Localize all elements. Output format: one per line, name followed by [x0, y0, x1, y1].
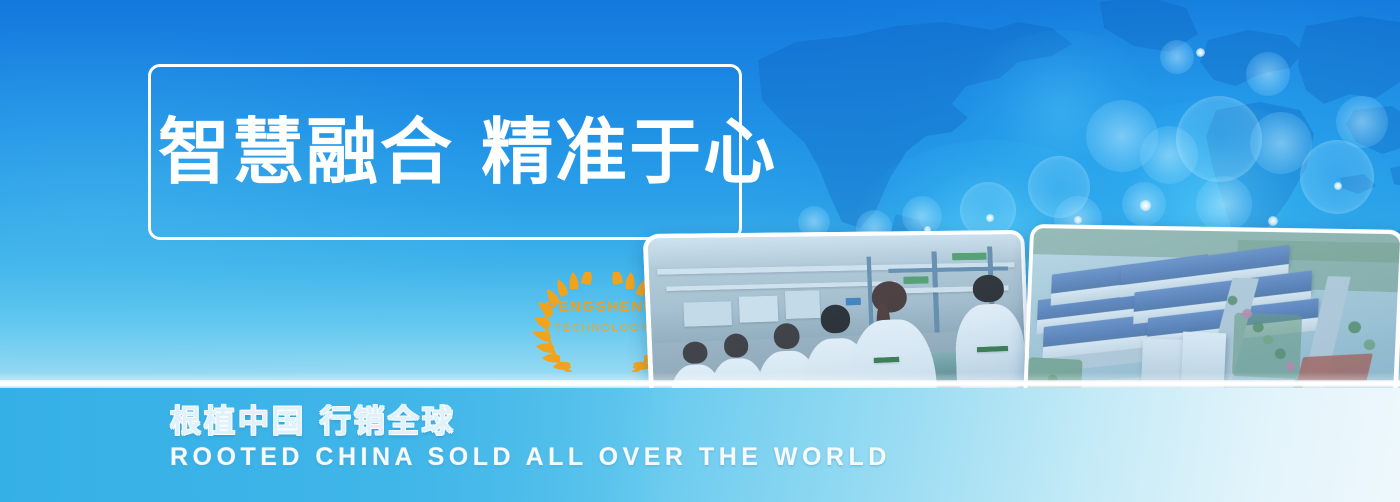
- slogan-chinese: 根植中国 行销全球: [170, 396, 456, 441]
- hero-banner: 智慧融合 精准于心: [0, 0, 1400, 502]
- page-title: 智慧融合 精准于心: [158, 106, 736, 198]
- slogan-english: ROOTED CHINA SOLD ALL OVER THE WORLD: [170, 443, 891, 472]
- horizontal-divider: [0, 380, 1400, 388]
